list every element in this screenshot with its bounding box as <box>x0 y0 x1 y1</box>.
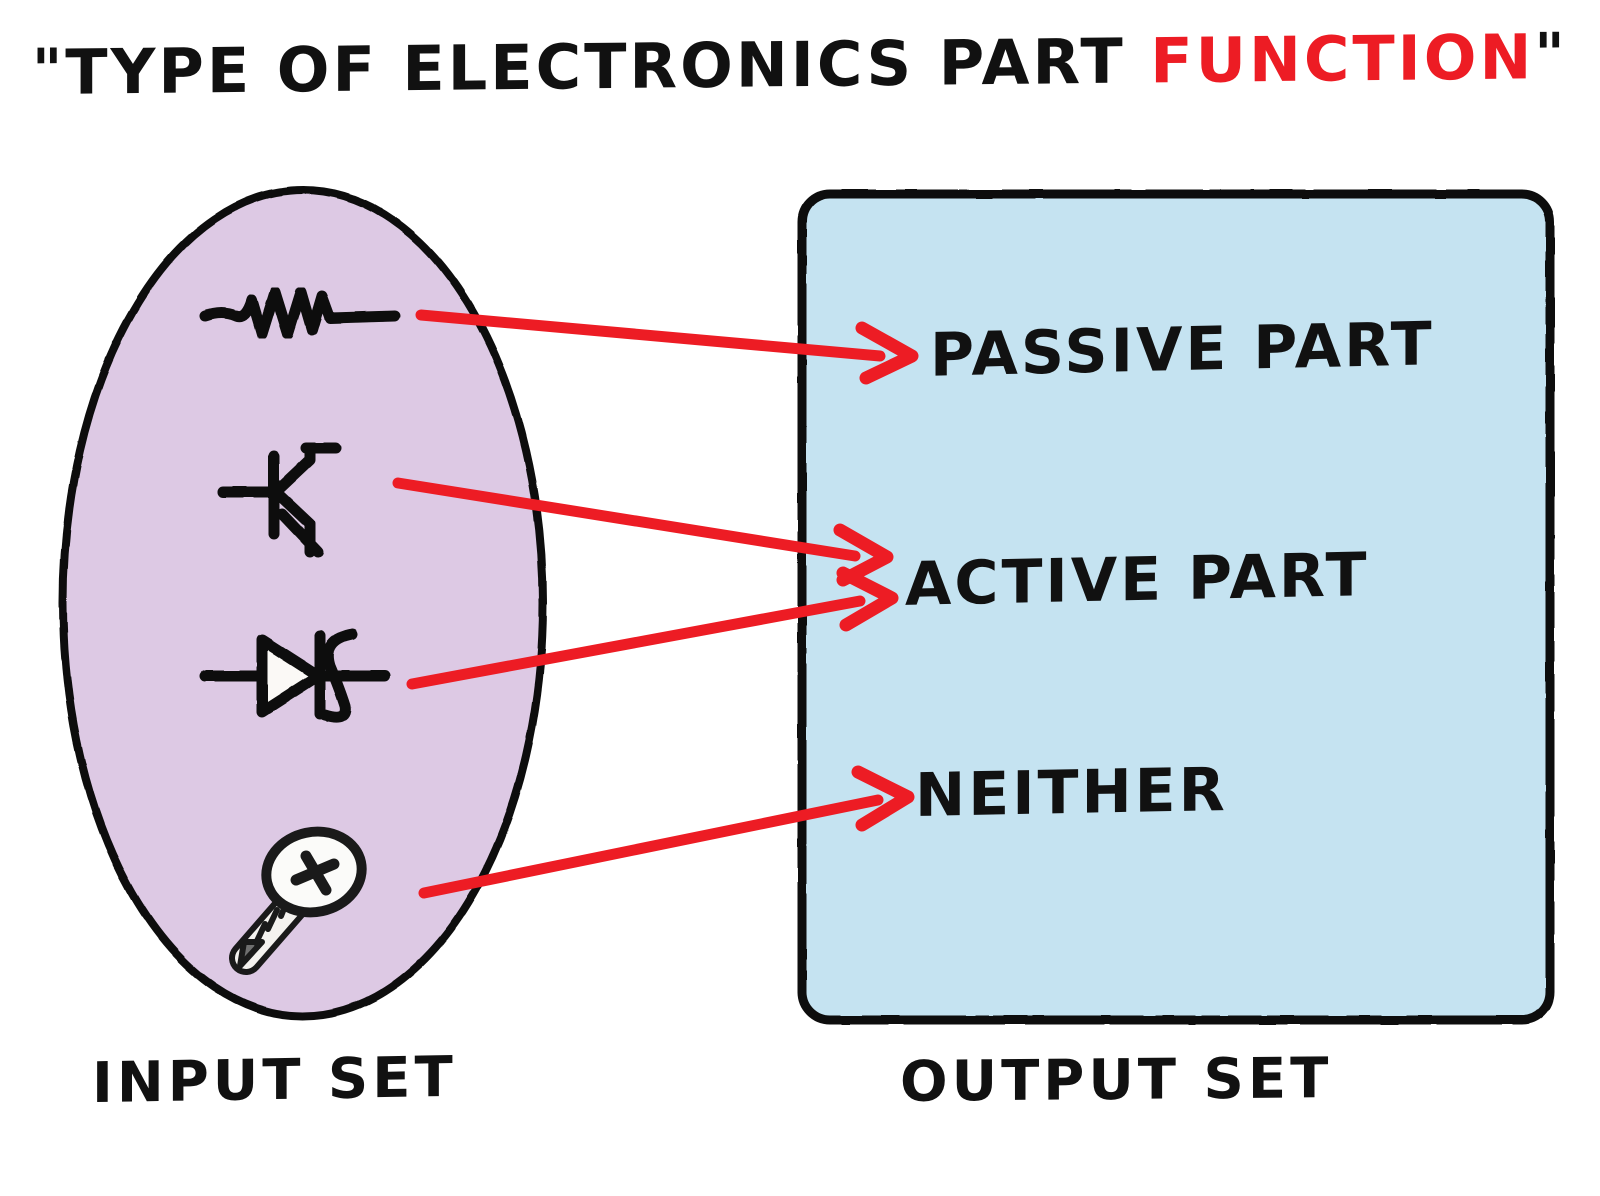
output-option-active-part[interactable]: ACTIVE PART <box>905 540 1369 620</box>
output-set-label: OUTPUT SET <box>900 1046 1332 1115</box>
output-option-passive-part[interactable]: PASSIVE PART <box>930 309 1435 390</box>
input-set-label: INPUT SET <box>92 1045 457 1116</box>
output-option-neither[interactable]: NEITHER <box>915 755 1228 831</box>
